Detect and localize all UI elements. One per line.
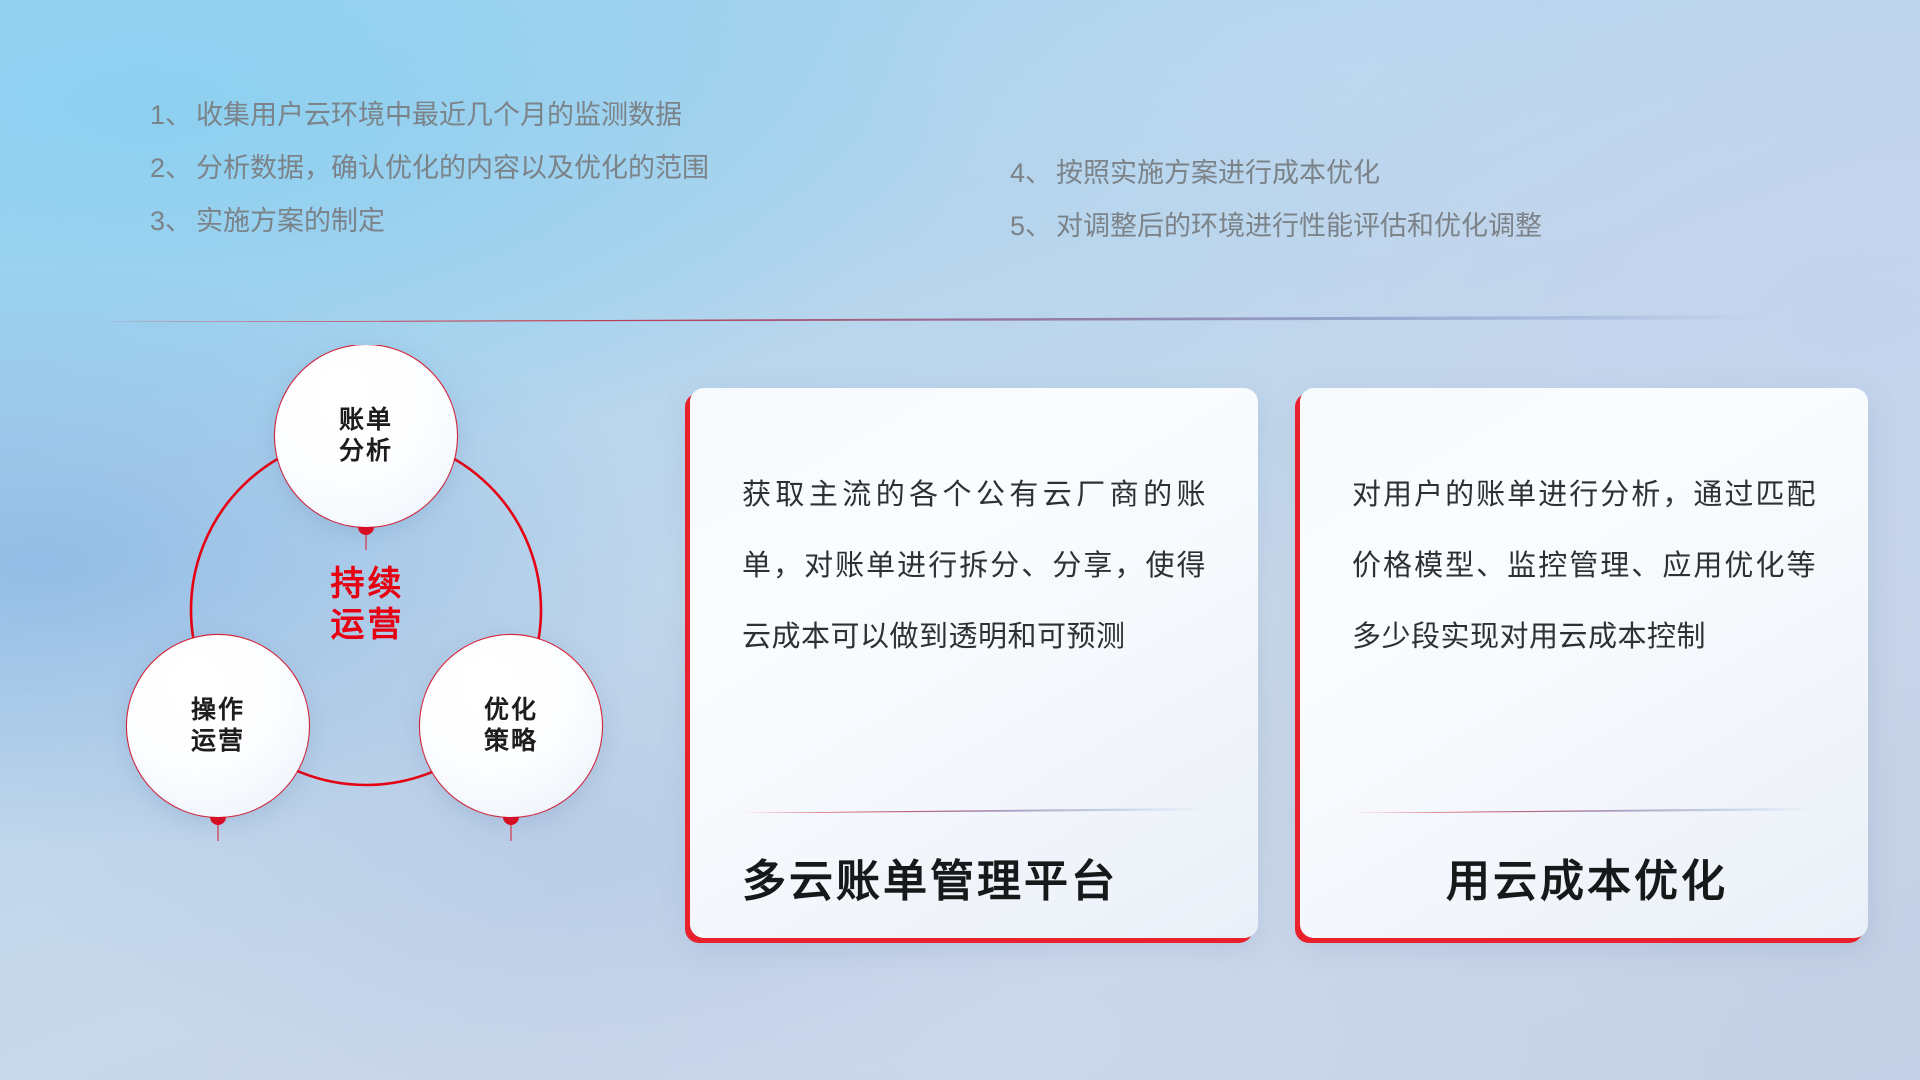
center-label-line2: 运营 (331, 605, 405, 646)
node-label-line1: 账单 (339, 405, 393, 436)
step-item-5: 5、 对调整后的环境进行性能评估和优化调整 (1010, 213, 1542, 240)
card-content: 对用户的账单进行分析，通过匹配价格模型、监控管理、应用优化等多少段实现对用云成本… (1300, 388, 1868, 938)
steps-list-left: 1、 收集用户云环境中最近几个月的监测数据 2、 分析数据，确认优化的内容以及优… (150, 102, 709, 261)
node-label-line2: 策略 (484, 726, 538, 757)
step-number: 4、 (1010, 160, 1056, 187)
card-content: 获取主流的各个公有云厂商的账单，对账单进行拆分、分享，使得云成本可以做到透明和可… (690, 388, 1258, 938)
step-text: 对调整后的环境进行性能评估和优化调整 (1056, 213, 1542, 240)
card-accent-rule (742, 806, 1206, 813)
step-text: 按照实施方案进行成本优化 (1056, 160, 1380, 187)
step-text: 分析数据，确认优化的内容以及优化的范围 (196, 155, 709, 182)
steps-list-right: 4、 按照实施方案进行成本优化 5、 对调整后的环境进行性能评估和优化调整 (1010, 160, 1542, 266)
step-number: 3、 (150, 208, 196, 235)
info-card-cloud-cost-optimization[interactable]: 对用户的账单进行分析，通过匹配价格模型、监控管理、应用优化等多少段实现对用云成本… (1300, 388, 1868, 938)
step-text: 实施方案的制定 (196, 208, 385, 235)
node-label-line1: 操作 (191, 695, 245, 726)
card-title: 用云成本优化 (1352, 858, 1822, 906)
card-accent-rule (1352, 806, 1816, 813)
continuous-operations-diagram: 账单 分析 操作 运营 优化 策略 持续 运营 (95, 345, 675, 945)
card-title: 多云账单管理平台 (742, 858, 1212, 906)
card-description: 对用户的账单进行分析，通过匹配价格模型、监控管理、应用优化等多少段实现对用云成本… (1352, 460, 1816, 673)
node-label-line1: 优化 (484, 695, 538, 726)
step-item-4: 4、 按照实施方案进行成本优化 (1010, 160, 1542, 187)
info-card-multi-cloud-billing[interactable]: 获取主流的各个公有云厂商的账单，对账单进行拆分、分享，使得云成本可以做到透明和可… (690, 388, 1258, 938)
card-description: 获取主流的各个公有云厂商的账单，对账单进行拆分、分享，使得云成本可以做到透明和可… (742, 460, 1206, 673)
step-number: 2、 (150, 155, 196, 182)
step-item-1: 1、 收集用户云环境中最近几个月的监测数据 (150, 102, 709, 129)
diagram-center-label: 持续 运营 (275, 510, 460, 700)
step-item-2: 2、 分析数据，确认优化的内容以及优化的范围 (150, 155, 709, 182)
step-number: 1、 (150, 102, 196, 129)
node-label-line2: 运营 (191, 726, 245, 757)
step-item-3: 3、 实施方案的制定 (150, 208, 709, 235)
diagram-node-billing-analysis[interactable]: 账单 分析 (275, 345, 457, 527)
step-text: 收集用户云环境中最近几个月的监测数据 (196, 102, 682, 129)
step-number: 5、 (1010, 213, 1056, 240)
center-label-line1: 持续 (331, 564, 405, 605)
node-label-line2: 分析 (339, 436, 393, 467)
section-divider (100, 313, 1770, 322)
